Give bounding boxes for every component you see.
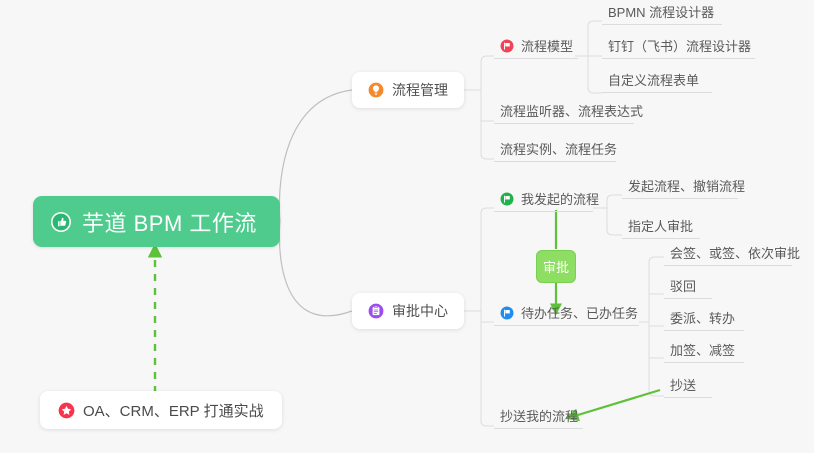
node-process-model[interactable]: 流程模型	[494, 36, 578, 59]
link-to-custom-form	[588, 88, 602, 93]
flag-icon	[500, 192, 514, 206]
node-reject[interactable]: 驳回	[664, 276, 712, 299]
thumbs-up-icon	[50, 211, 72, 233]
node-label: 流程管理	[392, 80, 448, 100]
node-delegate-transfer[interactable]: 委派、转办	[664, 308, 744, 331]
tag-approval[interactable]: 审批	[536, 250, 576, 283]
node-label: 流程模型	[521, 36, 573, 55]
node-todo-done-tasks[interactable]: 待办任务、已办任务	[494, 303, 639, 326]
link-to-my-initiated	[481, 208, 494, 213]
link-to-countersign	[649, 257, 664, 262]
node-label: 发起流程、撤销流程	[628, 176, 745, 195]
node-label: 流程实例、流程任务	[500, 139, 617, 158]
link-to-start-cancel	[607, 195, 622, 200]
node-approval-center[interactable]: 审批中心	[352, 293, 464, 329]
node-designated-approver[interactable]: 指定人审批	[622, 216, 700, 239]
node-bpmn-designer[interactable]: BPMN 流程设计器	[602, 2, 722, 25]
link-to-cc	[649, 391, 664, 396]
node-label: 驳回	[670, 276, 696, 295]
root-node[interactable]: 芋道 BPM 工作流	[33, 196, 280, 247]
root-label: 芋道 BPM 工作流	[82, 206, 257, 238]
node-label: 审批中心	[392, 301, 448, 321]
node-countersign-orsign-sequential[interactable]: 会签、或签、依次审批	[664, 243, 792, 266]
clipboard-icon	[368, 303, 384, 319]
node-label: 抄送	[670, 375, 696, 394]
node-process-listener-expression[interactable]: 流程监听器、流程表达式	[494, 101, 634, 124]
node-integration-practice[interactable]: OA、CRM、ERP 打通实战	[40, 391, 282, 429]
link-root-to-approval-center	[279, 221, 352, 316]
node-label: 指定人审批	[628, 216, 693, 235]
node-label: 待办任务、已办任务	[521, 303, 638, 322]
node-my-initiated-process[interactable]: 我发起的流程	[494, 189, 593, 212]
node-label: 我发起的流程	[521, 189, 599, 208]
node-label: OA、CRM、ERP 打通实战	[83, 400, 264, 421]
node-process-management[interactable]: 流程管理	[352, 72, 464, 108]
link-to-designated-approver	[607, 230, 622, 235]
link-root-to-process-management	[279, 90, 352, 221]
mindmap-canvas: 芋道 BPM 工作流 流程管理 流程模型 流程监听器、流程表达式 流程实例、流	[0, 0, 814, 453]
node-label: 流程监听器、流程表达式	[500, 101, 643, 120]
node-start-cancel-process[interactable]: 发起流程、撤销流程	[622, 176, 738, 199]
link-to-process-model	[481, 56, 494, 62]
lightbulb-icon	[368, 82, 384, 98]
node-cc-to-me-process[interactable]: 抄送我的流程	[494, 406, 583, 429]
star-icon	[58, 402, 75, 419]
node-label: 抄送我的流程	[500, 406, 578, 425]
link-to-bpmn-designer	[588, 21, 602, 26]
node-label: 自定义流程表单	[608, 70, 699, 89]
node-add-remove-sign[interactable]: 加签、减签	[664, 340, 744, 363]
node-process-instance-task[interactable]: 流程实例、流程任务	[494, 139, 616, 162]
node-label: 加签、减签	[670, 340, 735, 359]
flag-icon	[500, 306, 514, 320]
flag-icon	[500, 39, 514, 53]
link-to-cc-to-me	[481, 421, 494, 426]
link-to-process-instance	[481, 154, 494, 159]
node-custom-process-form[interactable]: 自定义流程表单	[602, 70, 712, 93]
node-dingtalk-feishu-designer[interactable]: 钉钉（飞书）流程设计器	[602, 36, 755, 59]
node-cc[interactable]: 抄送	[664, 375, 712, 398]
node-label: 委派、转办	[670, 308, 735, 327]
node-label: 会签、或签、依次审批	[670, 243, 800, 262]
tag-label: 审批	[543, 257, 569, 276]
node-label: 钉钉（飞书）流程设计器	[608, 36, 751, 55]
node-label: BPMN 流程设计器	[608, 2, 714, 21]
